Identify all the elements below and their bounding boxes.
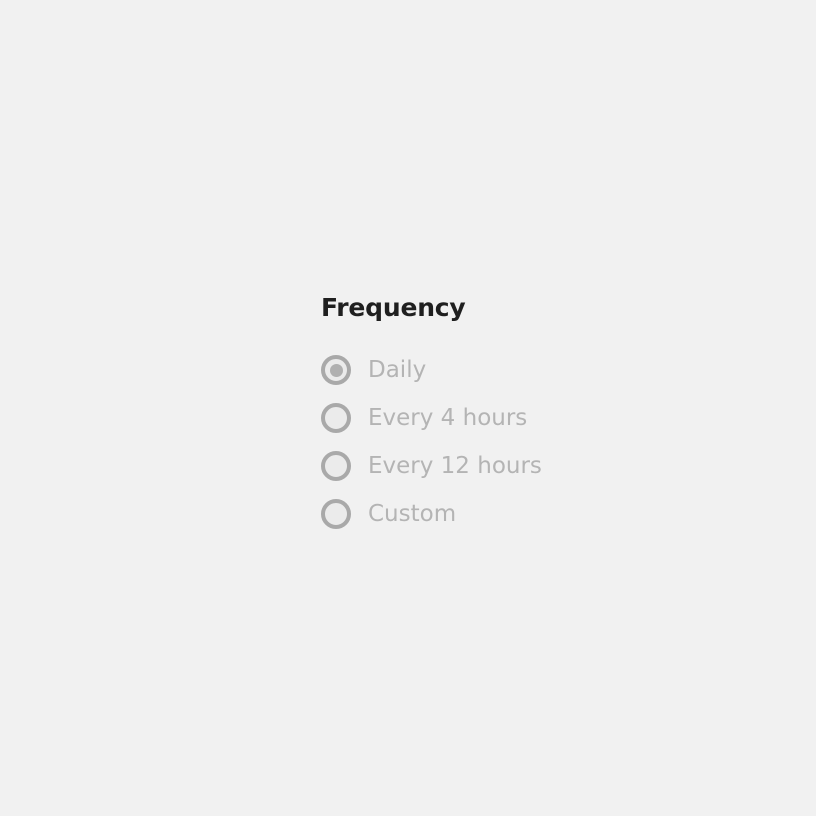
radio-unselected-icon[interactable]	[321, 403, 351, 433]
radio-dot-icon	[330, 364, 343, 377]
radio-unselected-icon[interactable]	[321, 499, 351, 529]
radio-option-daily[interactable]: Daily	[321, 346, 741, 394]
radio-option-every-4-hours[interactable]: Every 4 hours	[321, 394, 741, 442]
screen-root: Frequency Daily Every 4 hours Every 12 h…	[0, 0, 816, 816]
radio-option-custom[interactable]: Custom	[321, 490, 741, 538]
frequency-group-title: Frequency	[321, 292, 741, 324]
radio-option-label[interactable]: Custom	[368, 499, 456, 529]
radio-option-label[interactable]: Daily	[368, 355, 426, 385]
radio-option-label[interactable]: Every 12 hours	[368, 451, 542, 481]
radio-option-every-12-hours[interactable]: Every 12 hours	[321, 442, 741, 490]
radio-unselected-icon[interactable]	[321, 451, 351, 481]
radio-option-label[interactable]: Every 4 hours	[368, 403, 527, 433]
radio-selected-icon[interactable]	[321, 355, 351, 385]
frequency-form-group: Frequency Daily Every 4 hours Every 12 h…	[321, 292, 741, 538]
frequency-radio-group[interactable]: Daily Every 4 hours Every 12 hours Custo…	[321, 346, 741, 538]
